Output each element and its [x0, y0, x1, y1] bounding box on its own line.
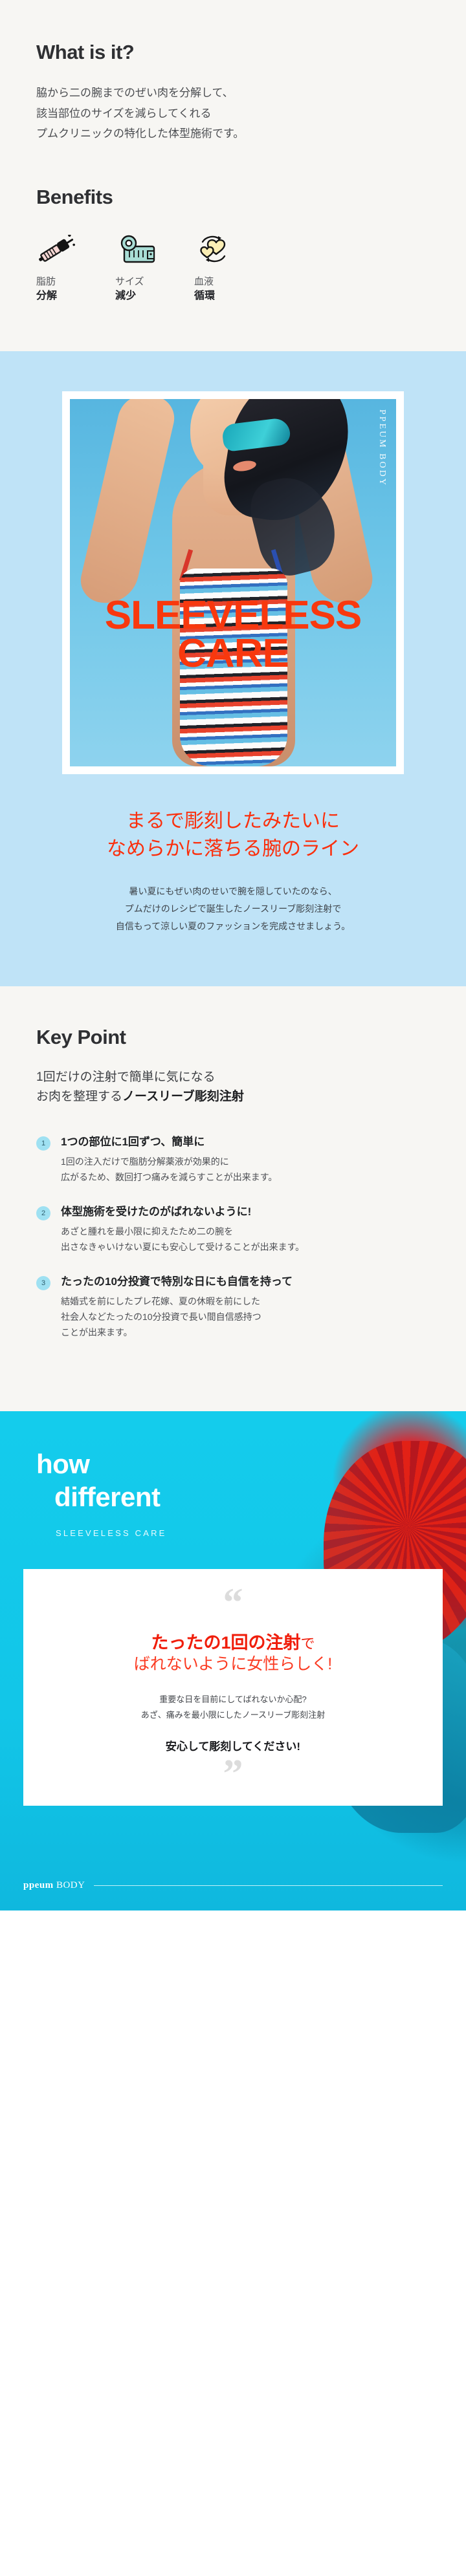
key-point-body: あざと腫れを最小限に抑えたため二の腕を 出さなきゃいけない夏にも安心して受けるこ… — [61, 1224, 304, 1255]
benefit-line-2: 循環 — [194, 288, 264, 303]
hero-sub-line-1: 暑い夏にもぜい肉のせいで腕を隠していたのなら、 — [0, 883, 466, 900]
key-point-number: 3 — [36, 1276, 50, 1290]
what-is-it-body: 脇から二の腕までのぜい肉を分解して、 該当部位のサイズを減らしてくれる プムクリ… — [36, 83, 430, 144]
key-point-body-line: 出さなきゃいけない夏にも安心して受けることが出来ます。 — [61, 1239, 304, 1255]
hero-sub-line-3: 自信もって涼しい夏のファッションを完成させましょう。 — [0, 918, 466, 935]
intro-line-1: 脇から二の腕までのぜい肉を分解して、 — [36, 87, 234, 99]
quote-headline-bold: たったの1回の注射 — [151, 1633, 300, 1652]
benefit-line-2: 分解 — [36, 288, 106, 303]
quote-body: 重要な日を目前にしてばれないか心配? あざ、痛みを最小限にしたノースリーブ彫刻注… — [41, 1692, 425, 1723]
quote-emphasis: 安心して彫刻してください! — [41, 1737, 425, 1753]
intro-line-3: プムクリニックの特化した体型施術です。 — [36, 127, 244, 140]
key-point-title: 1つの部位に1回ずつ、簡単に — [61, 1134, 277, 1150]
intro-line-2: 該当部位のサイズを減らしてくれる — [36, 107, 211, 120]
quote-open-icon: “ — [41, 1591, 425, 1615]
section-hero: PPEUM BODY SLEEVELESS CARE まるで彫刻したみたいに な… — [0, 351, 466, 986]
key-point-item: 2 体型施術を受けたのがばれないように! あざと腫れを最小限に抑えたため二の腕を… — [36, 1204, 430, 1255]
key-point-text: 1つの部位に1回ずつ、簡単に 1回の注入だけで脂肪分解薬液が効果的に 広がるため… — [61, 1134, 277, 1185]
key-point-body-line: 広がるため、数回打つ痛みを減らすことが出来ます。 — [61, 1169, 277, 1185]
key-lede-line-1: 1回だけの注射で簡単に気になる — [36, 1070, 216, 1084]
hero-title-line-1: まるで彫刻したみたいに — [0, 808, 466, 836]
benefits-list: 脂肪 分解 サイズ 減少 — [36, 231, 430, 304]
how-different-header: how different SLEEVELESS CARE — [0, 1447, 466, 1537]
quote-headline-line-2: ばれないように女性らしく! — [41, 1654, 425, 1675]
section-key-point: Key Point 1回だけの注射で簡単に気になる お肉を整理するノースリーブ彫… — [0, 986, 466, 1412]
key-point-list: 1 1つの部位に1回ずつ、簡単に 1回の注入だけで脂肪分解薬液が効果的に 広がる… — [36, 1134, 430, 1340]
key-point-item: 3 たったの10分投資で特別な日にも自信を持って 結婚式を前にしたプレ花嫁、夏の… — [36, 1274, 430, 1340]
benefit-line-1: 血液 — [194, 275, 264, 289]
key-point-body-line: 1回の注入だけで脂肪分解薬液が効果的に — [61, 1154, 277, 1169]
key-point-number: 1 — [36, 1136, 50, 1151]
how-different-line-1: how — [36, 1449, 89, 1479]
key-point-text: たったの10分投資で特別な日にも自信を持って 結婚式を前にしたプレ花嫁、夏の休暇… — [61, 1274, 293, 1340]
landing-page: What is it? 脇から二の腕までのぜい肉を分解して、 該当部位のサイズを… — [0, 0, 466, 1910]
key-point-body-line: ことが出来ます。 — [61, 1325, 293, 1340]
key-lede-line-2-plain: お肉を整理する — [36, 1090, 122, 1103]
how-different-subtitle: SLEEVELESS CARE — [56, 1528, 466, 1538]
brand-logo: ppeum BODY — [23, 1880, 85, 1891]
key-point-body: 1回の注入だけで脂肪分解薬液が効果的に 広がるため、数回打つ痛みを減らすことが出… — [61, 1154, 277, 1185]
key-lede-line-2-bold: ノースリーブ彫刻注射 — [122, 1090, 244, 1103]
key-point-body-line: 結婚式を前にしたプレ花嫁、夏の休暇を前にした — [61, 1293, 293, 1309]
how-different-heading: how different — [36, 1447, 466, 1513]
benefit-item: 脂肪 分解 — [36, 231, 106, 304]
footer-brand-row: ppeum BODY — [0, 1858, 466, 1910]
key-point-body-line: あざと腫れを最小限に抑えたため二の腕を — [61, 1224, 304, 1239]
quote-card: “ たったの1回の注射で ばれないように女性らしく! 重要な日を目前にしてばれな… — [23, 1569, 443, 1806]
quote-close-icon: ” — [41, 1762, 425, 1786]
key-point-body-line: 社会人などたったの10分投資で長い間自信感持つ — [61, 1309, 293, 1325]
key-point-lede: 1回だけの注射で簡単に気になる お肉を整理するノースリーブ彫刻注射 — [36, 1068, 430, 1108]
benefit-line-2: 減少 — [115, 288, 185, 303]
key-point-heading: Key Point — [36, 1026, 430, 1048]
quote-headline-line-1: たったの1回の注射で — [41, 1632, 425, 1654]
syringe-icon — [36, 231, 106, 265]
key-point-title: たったの10分投資で特別な日にも自信を持って — [61, 1274, 293, 1290]
key-point-body: 結婚式を前にしたプレ花嫁、夏の休暇を前にした 社会人などたったの10分投資で長い… — [61, 1293, 293, 1340]
key-point-title: 体型施術を受けたのがばれないように! — [61, 1204, 304, 1220]
hero-vertical-brand: PPEUM BODY — [377, 409, 387, 487]
benefit-item: サイズ 減少 — [115, 231, 185, 304]
section-how-different: how different SLEEVELESS CARE “ たったの1回の注… — [0, 1411, 466, 1910]
quote-body-line: あざ、痛みを最小限にしたノースリーブ彫刻注射 — [41, 1707, 425, 1723]
measuring-tape-icon — [115, 231, 185, 265]
brand-name-light: BODY — [54, 1880, 85, 1890]
hero-title: まるで彫刻したみたいに なめらかに落ちる腕のライン — [0, 808, 466, 863]
hero-subtext: 暑い夏にもぜい肉のせいで腕を隠していたのなら、 プムだけのレシピで誕生したノース… — [0, 883, 466, 936]
section-what-is-it: What is it? 脇から二の腕までのぜい肉を分解して、 該当部位のサイズを… — [0, 0, 466, 351]
what-is-it-heading: What is it? — [36, 41, 430, 63]
hero-title-line-2: なめらかに落ちる腕のライン — [0, 836, 466, 863]
key-point-text: 体型施術を受けたのがばれないように! あざと腫れを最小限に抑えたため二の腕を 出… — [61, 1204, 304, 1255]
how-different-line-2: different — [54, 1480, 466, 1513]
benefits-heading: Benefits — [36, 186, 430, 208]
hero-photo: PPEUM BODY — [70, 399, 396, 766]
hero-photo-frame: PPEUM BODY SLEEVELESS CARE — [62, 391, 404, 774]
photo-swimsuit — [180, 568, 287, 766]
quote-headline-tail: で — [301, 1636, 315, 1652]
benefit-line-1: サイズ — [115, 275, 185, 289]
benefit-item: 血液 循環 — [194, 231, 264, 304]
key-point-number: 2 — [36, 1206, 50, 1220]
hero-sub-line-2: プムだけのレシピで誕生したノースリーブ彫刻注射で — [0, 900, 466, 918]
brand-name-bold: ppeum — [23, 1880, 54, 1890]
key-point-item: 1 1つの部位に1回ずつ、簡単に 1回の注入だけで脂肪分解薬液が効果的に 広がる… — [36, 1134, 430, 1185]
brand-divider — [94, 1885, 443, 1886]
quote-body-line: 重要な日を目前にしてばれないか心配? — [41, 1692, 425, 1707]
benefit-line-1: 脂肪 — [36, 275, 106, 289]
heart-circulation-icon — [194, 231, 264, 265]
